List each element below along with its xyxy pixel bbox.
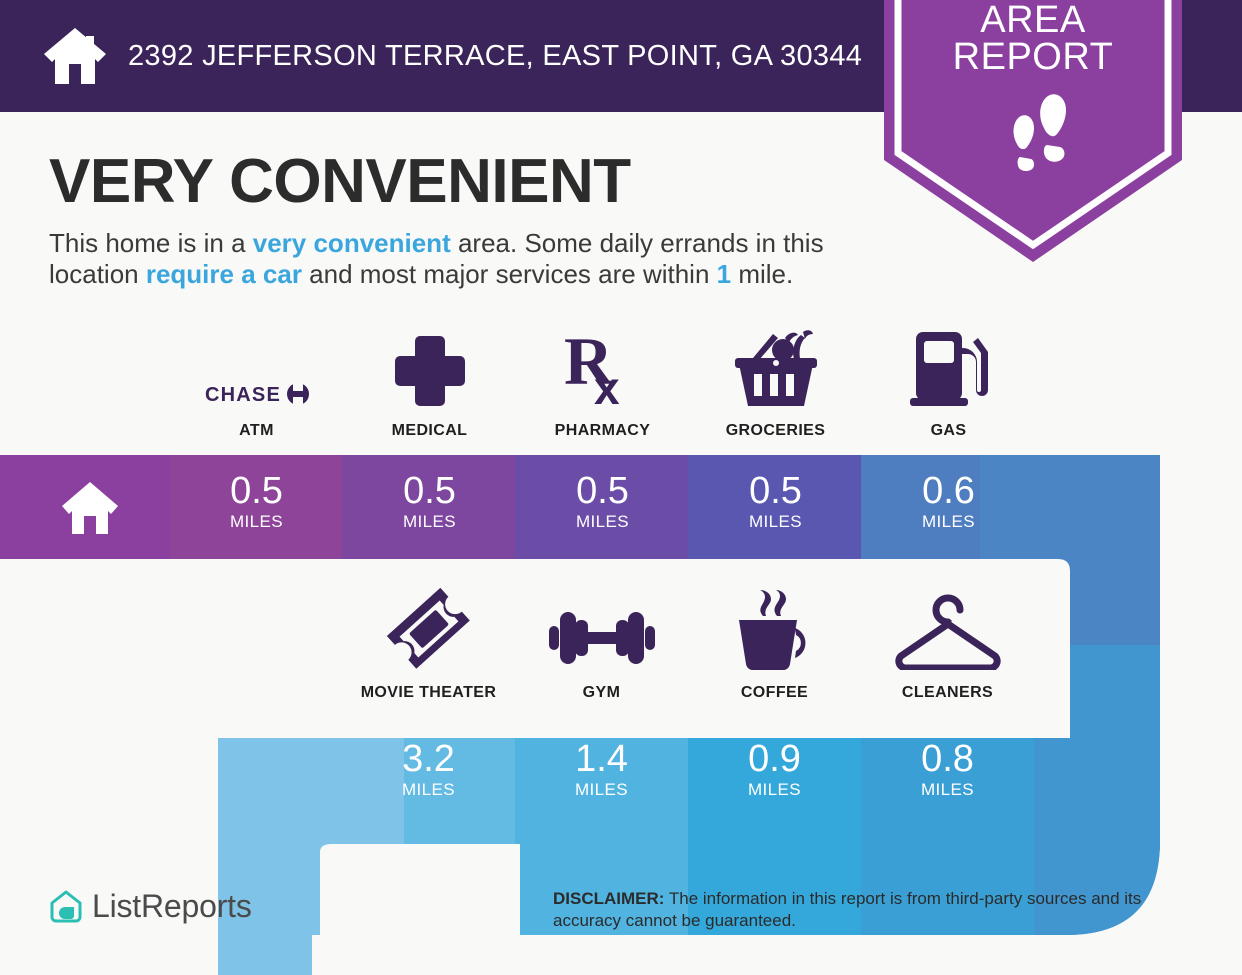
pharmacy-rx-icon: R x (564, 330, 642, 408)
gym-dumbbell-icon (549, 592, 655, 670)
distance-unit: MILES (515, 780, 688, 799)
disclaimer: DISCLAIMER: The information in this repo… (553, 888, 1213, 932)
amenity-label: GAS (931, 422, 967, 440)
amenity-label: COFFEE (741, 684, 808, 702)
groceries-basket-icon (733, 330, 819, 408)
amenity-label: GROCERIES (726, 422, 826, 440)
distance-cleaners: 0.8 MILES (861, 738, 1034, 799)
body-text-1: This home is in a (49, 228, 253, 258)
amenity-movie-theater: MOVIE THEATER (342, 592, 515, 702)
distance-value: 0.9 (688, 738, 861, 780)
amenity-icon-row-1: CHASE ATM MEDICAL R x PHARMACY (170, 330, 1035, 440)
distance-gas: 0.6 MILES (862, 470, 1035, 531)
body-text-4: mile. (731, 259, 793, 289)
cleaners-hanger-icon (893, 592, 1003, 670)
distance-groceries: 0.5 MILES (689, 470, 862, 531)
distance-unit: MILES (689, 512, 862, 531)
distance-unit: MILES (862, 512, 1035, 531)
amenity-label: ATM (239, 422, 274, 440)
amenity-atm: CHASE ATM (170, 330, 343, 440)
headline-body: This home is in a very convenient area. … (49, 228, 879, 290)
body-text-3: and most major services are within (302, 259, 717, 289)
headline-section: VERY CONVENIENT This home is in a very c… (49, 148, 879, 290)
distance-gym: 1.4 MILES (515, 738, 688, 799)
chase-atm-icon: CHASE (205, 330, 309, 408)
distance-row-1: 0.5 MILES 0.5 MILES 0.5 MILES 0.5 MILES … (170, 470, 1035, 531)
amenity-gas: GAS (862, 330, 1035, 440)
amenity-medical: MEDICAL (343, 330, 516, 440)
amenity-coffee: COFFEE (688, 592, 861, 702)
distance-unit: MILES (516, 512, 689, 531)
distance-value: 0.5 (689, 470, 862, 512)
distance-unit: MILES (343, 512, 516, 531)
distance-value: 3.2 (342, 738, 515, 780)
amenity-label: CLEANERS (902, 684, 993, 702)
area-report-badge: AREA REPORT (884, 0, 1182, 262)
highlight-require-a-car: require a car (146, 259, 302, 289)
page-title: VERY CONVENIENT (49, 148, 879, 216)
distance-unit: MILES (861, 780, 1034, 799)
amenity-label: MEDICAL (392, 422, 468, 440)
movie-ticket-icon (383, 592, 475, 670)
amenity-groceries: GROCERIES (689, 330, 862, 440)
amenity-gym: GYM (515, 592, 688, 702)
distance-pharmacy: 0.5 MILES (516, 470, 689, 531)
distance-unit: MILES (170, 512, 343, 531)
listreports-house-icon (49, 889, 83, 925)
distance-value: 0.5 (516, 470, 689, 512)
distance-value: 0.8 (861, 738, 1034, 780)
amenity-label: GYM (583, 684, 621, 702)
svg-text:x: x (594, 362, 620, 408)
coffee-cup-icon (733, 592, 817, 670)
amenity-cleaners: CLEANERS (861, 592, 1034, 702)
distance-row-2: 3.2 MILES 1.4 MILES 0.9 MILES 0.8 MILES (342, 738, 1034, 799)
distance-coffee: 0.9 MILES (688, 738, 861, 799)
distance-movie-theater: 3.2 MILES (342, 738, 515, 799)
distance-value: 0.5 (170, 470, 343, 512)
svg-text:CHASE: CHASE (205, 384, 281, 406)
amenity-icon-row-2: MOVIE THEATER GYM (342, 592, 1034, 702)
highlight-very-convenient: very convenient (253, 228, 451, 258)
amenity-label: MOVIE THEATER (361, 684, 497, 702)
home-icon (42, 26, 108, 86)
listreports-wordmark: ListReports (92, 888, 252, 925)
distance-unit: MILES (342, 780, 515, 799)
distance-value: 0.5 (343, 470, 516, 512)
gas-pump-icon (910, 330, 988, 408)
distance-value: 1.4 (515, 738, 688, 780)
distance-unit: MILES (688, 780, 861, 799)
ribbon-home-icon (60, 480, 120, 536)
distance-atm: 0.5 MILES (170, 470, 343, 531)
distance-value: 0.6 (862, 470, 1035, 512)
disclaimer-label: DISCLAIMER: (553, 889, 664, 908)
listreports-logo[interactable]: ListReports (49, 888, 252, 925)
amenity-label: PHARMACY (555, 422, 651, 440)
amenity-pharmacy: R x PHARMACY (516, 330, 689, 440)
medical-cross-icon (393, 330, 467, 408)
property-address: 2392 JEFFERSON TERRACE, EAST POINT, GA 3… (128, 40, 862, 73)
highlight-miles: 1 (717, 259, 731, 289)
distance-medical: 0.5 MILES (343, 470, 516, 531)
